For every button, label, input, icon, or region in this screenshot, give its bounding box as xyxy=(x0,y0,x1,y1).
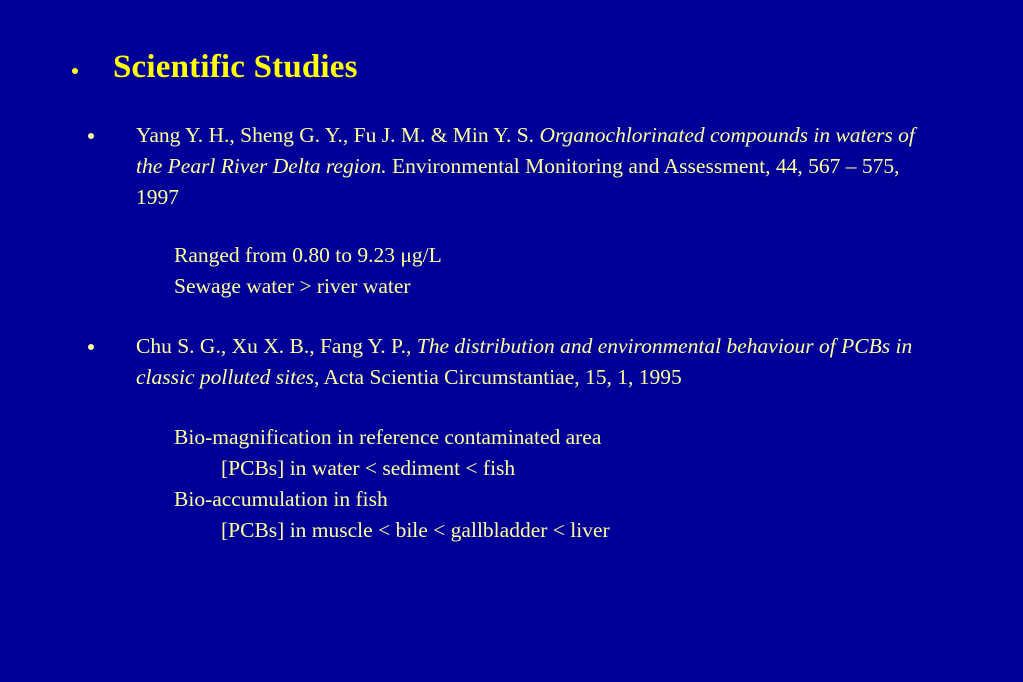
findings-list-1: Ranged from 0.80 to 9.23 μg/L Sewage wat… xyxy=(174,240,948,302)
spacer xyxy=(88,302,948,331)
findings-list-2: Bio-magnification in reference contamina… xyxy=(174,422,948,546)
bullet-dot-icon xyxy=(88,344,94,350)
slide-body: Yang Y. H., Sheng G. Y., Fu J. M. & Min … xyxy=(88,120,948,546)
reference-authors-1: Yang Y. H., Sheng G. Y., Fu J. M. & Min … xyxy=(136,123,539,147)
finding-item: [PCBs] in water < sediment < fish xyxy=(174,453,948,484)
bullet-dot-icon xyxy=(72,68,78,74)
finding-item: Bio-accumulation in fish xyxy=(174,484,948,515)
finding-item: [PCBs] in muscle < bile < gallbladder < … xyxy=(174,515,948,546)
bullet-dot-icon xyxy=(88,133,94,139)
slide-title-row: Scientific Studies xyxy=(72,48,358,86)
reference-citation-2: Chu S. G., Xu X. B., Fang Y. P., The dis… xyxy=(136,331,936,393)
finding-item: Ranged from 0.80 to 9.23 μg/L xyxy=(174,240,948,271)
reference-entry-1: Yang Y. H., Sheng G. Y., Fu J. M. & Min … xyxy=(88,120,948,213)
finding-item: Bio-magnification in reference contamina… xyxy=(174,422,948,453)
reference-authors-2: Chu S. G., Xu X. B., Fang Y. P., xyxy=(136,334,417,358)
slide-canvas: Scientific Studies Yang Y. H., Sheng G. … xyxy=(0,0,1023,682)
spacer xyxy=(88,213,948,240)
reference-source-2: , Acta Scientia Circumstantiae, 15, 1, 1… xyxy=(314,365,682,389)
reference-citation-1: Yang Y. H., Sheng G. Y., Fu J. M. & Min … xyxy=(136,120,936,213)
reference-entry-2: Chu S. G., Xu X. B., Fang Y. P., The dis… xyxy=(88,331,948,393)
page-title: Scientific Studies xyxy=(113,48,358,86)
spacer xyxy=(88,393,948,422)
finding-item: Sewage water > river water xyxy=(174,271,948,302)
